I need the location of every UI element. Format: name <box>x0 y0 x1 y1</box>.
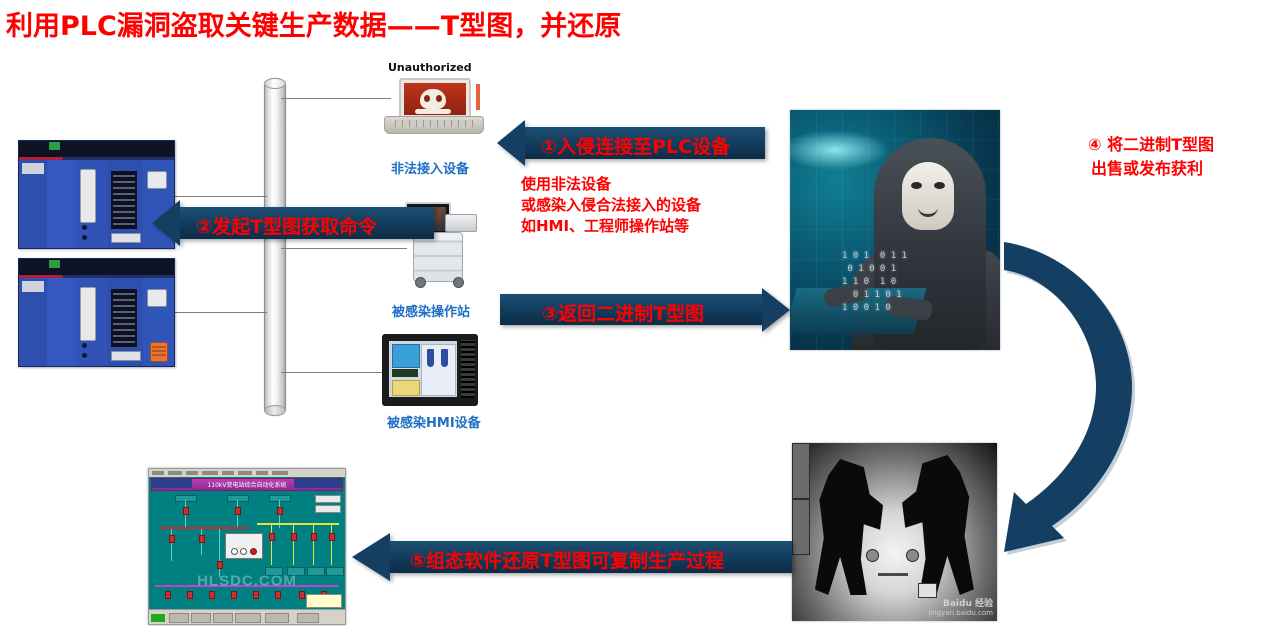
note-attack-line3: 如HMI、工程师操作站等 <box>521 216 701 237</box>
page-title: 利用PLC漏洞盗取关键生产数据——T型图，并还原 <box>6 4 621 43</box>
note-step-4: ④ 将二进制T型图 出售或发布获利 <box>1088 133 1214 181</box>
arrow-step-1-label: ①入侵连接至PLC设备 <box>541 132 730 159</box>
caption-illegal-device: 非法接入设备 <box>391 158 469 177</box>
curved-arrow-step-4 <box>960 180 1170 580</box>
note-attack-line1: 使用非法设备 <box>521 174 701 195</box>
note-step4-line2: 出售或发布获利 <box>1091 157 1214 181</box>
caption-infected-workstation: 被感染操作站 <box>392 301 470 320</box>
scada-watermark: HLSDC.COM <box>197 572 297 589</box>
plc-device-bottom <box>18 258 175 367</box>
arrow-step-3: ③返回二进制T型图 <box>500 288 790 332</box>
scada-screen-image: 110kV变电站综合自动化系统 HLSDC.COM <box>148 468 346 625</box>
watermark: Baidu 经验 jingyan.baidu.com <box>928 600 993 618</box>
arrow-step-2: ②发起T型图获取命令 <box>152 200 434 246</box>
caption-infected-hmi: 被感染HMI设备 <box>387 412 481 431</box>
note-step4-line1: ④ 将二进制T型图 <box>1088 133 1214 157</box>
crossbones-icon <box>415 109 451 114</box>
arrow-step-5: ⑤组态软件还原T型图可复制生产过程 <box>352 533 792 581</box>
scada-title-text: 110kV变电站综合自动化系统 <box>207 480 286 489</box>
watermark-main: Baidu 经验 <box>943 599 993 609</box>
arrow-step-2-label: ②发起T型图获取命令 <box>196 212 377 239</box>
arrow-step-1: ①入侵连接至PLC设备 <box>497 120 765 166</box>
note-attack-line2: 或感染入侵合法接入的设备 <box>521 195 701 216</box>
skull-icon <box>420 89 446 109</box>
wire-workstation <box>281 248 407 249</box>
wire-hmi <box>281 372 385 373</box>
unauthorized-laptop-image <box>384 78 482 136</box>
arrow-step-3-label: ③返回二进制T型图 <box>542 299 704 326</box>
wire-laptop <box>281 98 391 99</box>
watermark-sub: jingyan.baidu.com <box>928 609 993 617</box>
network-bus <box>264 78 286 416</box>
arrow-step-5-label: ⑤组态软件还原T型图可复制生产过程 <box>410 546 724 573</box>
note-attack-method: 使用非法设备 或感染入侵合法接入的设备 如HMI、工程师操作站等 <box>521 174 701 237</box>
infected-hmi-image <box>382 334 478 406</box>
unauthorized-screen-text: Unauthorized <box>388 61 472 74</box>
